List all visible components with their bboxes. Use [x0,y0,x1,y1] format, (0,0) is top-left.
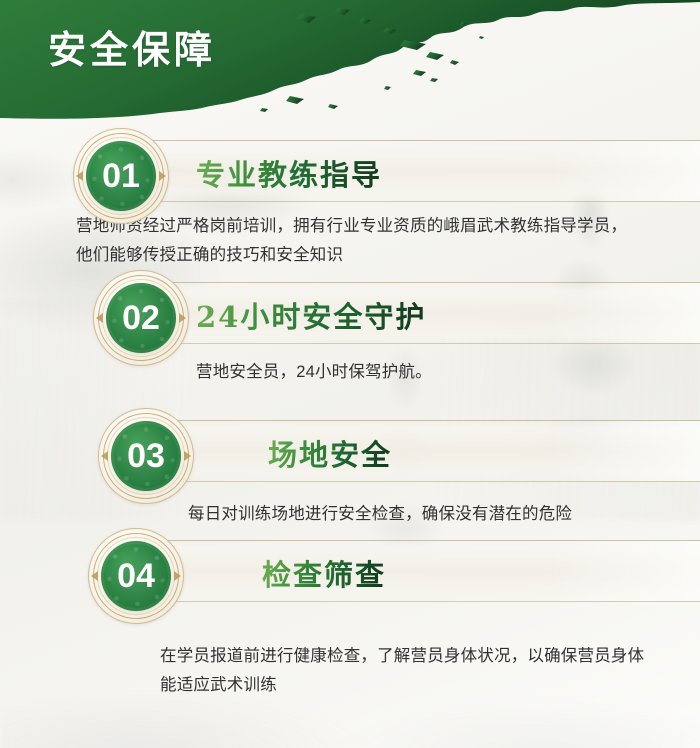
badge-number: 04 [117,559,155,593]
badge-arrow-left-icon [76,171,83,181]
badge-arrow-right-icon [179,313,186,323]
item-title: 24小时安全守护 [196,294,426,336]
title-band [118,540,700,602]
number-badge: 03 [98,408,194,504]
safety-guarantee-page: 安全保障 01 专业教练指导 营地师资经过严格岗前培训，拥有行业专业资质的峨眉武… [0,0,700,748]
item-body-text: 营地安全员，24小时保驾护航。 [196,358,656,387]
number-badge: 02 [93,270,189,366]
badge-arrow-right-icon [184,451,191,461]
badge-number: 01 [102,159,140,193]
badge-number: 03 [127,439,165,473]
number-badge: 01 [73,128,169,224]
item-body-text: 营地师资经过严格岗前培训，拥有行业专业资质的峨眉武术教练指导学员，他们能够传授正… [76,212,636,270]
title-band [118,420,700,482]
badge-arrow-left-icon [96,313,103,323]
badge-arrow-left-icon [91,571,98,581]
number-badge: 04 [88,528,184,624]
badge-green-disc: 02 [106,283,176,353]
header-banner: 安全保障 [0,0,700,135]
page-title: 安全保障 [48,26,216,74]
badge-arrow-right-icon [159,171,166,181]
item-body-text: 每日对训练场地进行安全检查，确保没有潜在的危险 [188,500,668,529]
badge-number: 02 [122,301,160,335]
item-title: 场地安全 [268,432,392,474]
badge-arrow-right-icon [174,571,181,581]
badge-arrow-left-icon [101,451,108,461]
badge-green-disc: 04 [101,541,171,611]
badge-green-disc: 03 [111,421,181,491]
item-body-text: 在学员报道前进行健康检查，了解营员身体状况，以确保营员身体能适应武术训练 [160,642,660,700]
item-title: 专业教练指导 [196,152,382,194]
badge-green-disc: 01 [86,141,156,211]
item-title: 检查筛查 [262,552,386,594]
